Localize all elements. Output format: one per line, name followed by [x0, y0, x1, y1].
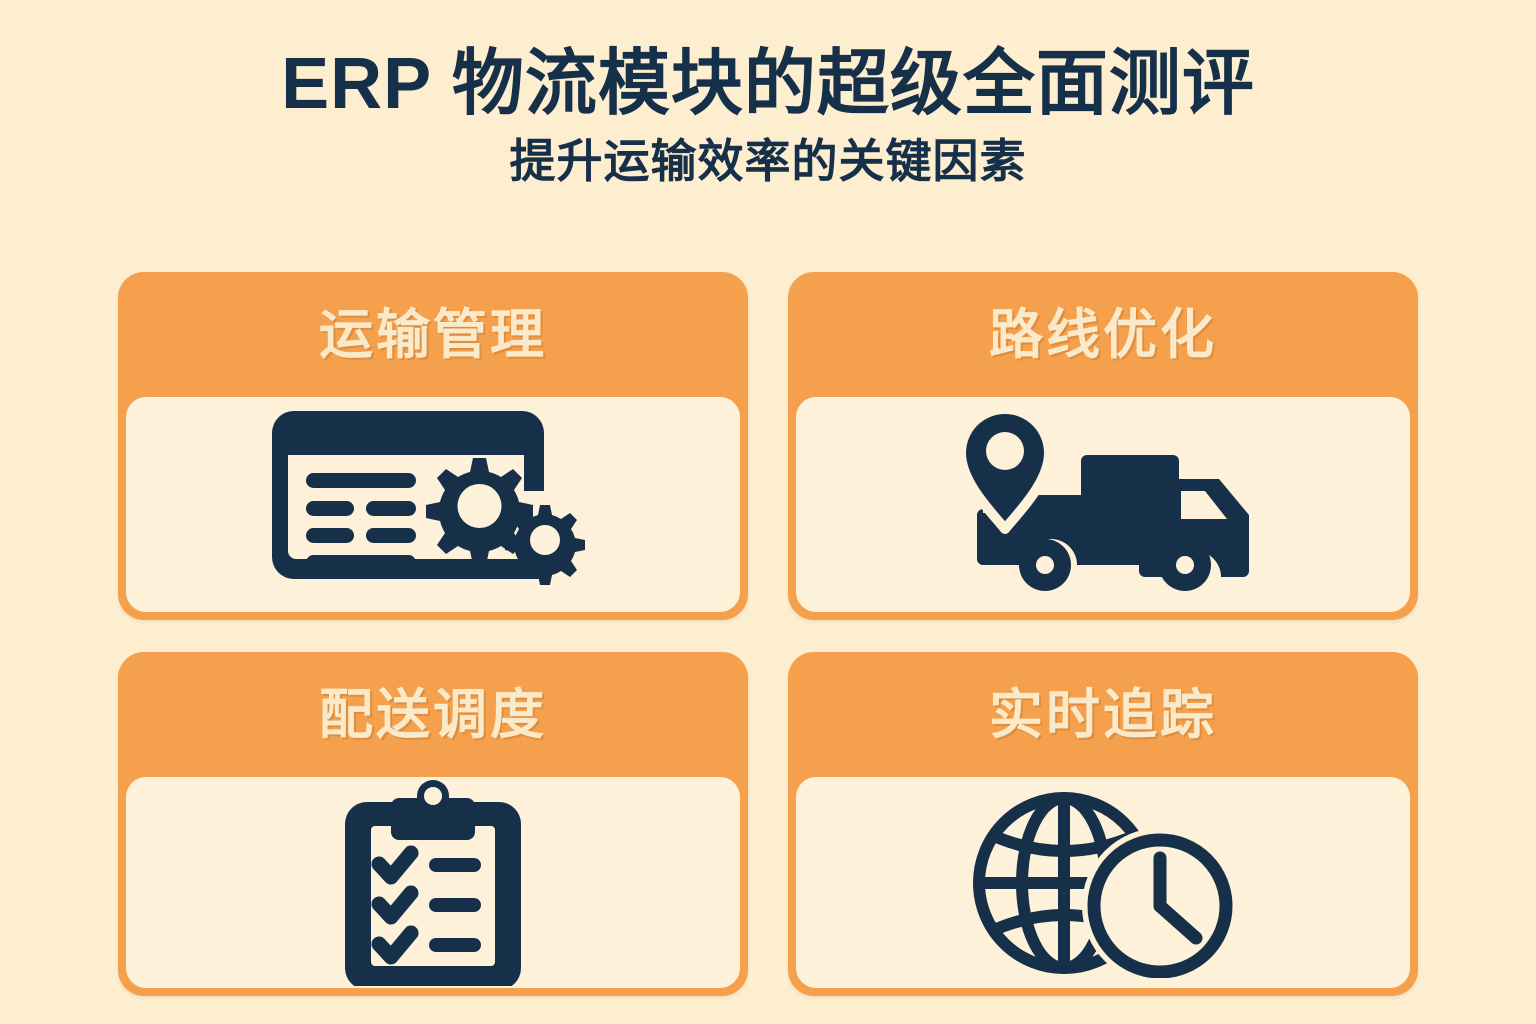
- feature-card-route-optimization[interactable]: 路线优化: [788, 272, 1418, 620]
- card-body-real-time-tracking: [796, 777, 1410, 988]
- card-title-delivery-scheduling: 配送调度: [319, 688, 547, 742]
- delivery-truck-location-icon: [796, 397, 1410, 612]
- poster-header: ERP 物流模块的超级全面测评 提升运输效率的关键因素: [0, 44, 1536, 188]
- card-title-real-time-tracking: 实时追踪: [989, 688, 1217, 742]
- card-body-delivery-scheduling: [126, 777, 740, 988]
- card-body-route-optimization: [796, 397, 1410, 612]
- card-title-route-optimization: 路线优化: [989, 308, 1217, 362]
- card-title-transport-management: 运输管理: [319, 308, 547, 362]
- feature-card-delivery-scheduling[interactable]: 配送调度: [118, 652, 748, 996]
- globe-clock-icon: [796, 777, 1410, 988]
- card-header-transport-management: 运输管理: [118, 272, 748, 397]
- card-header-delivery-scheduling: 配送调度: [118, 652, 748, 777]
- page-title: ERP 物流模块的超级全面测评: [0, 44, 1536, 125]
- card-header-real-time-tracking: 实时追踪: [788, 652, 1418, 777]
- browser-settings-icon: [126, 397, 740, 612]
- page-subtitle: 提升运输效率的关键因素: [0, 135, 1536, 188]
- card-header-route-optimization: 路线优化: [788, 272, 1418, 397]
- feature-card-grid: 运输管理: [118, 272, 1418, 996]
- infographic-poster: ERP 物流模块的超级全面测评 提升运输效率的关键因素 运输管理: [0, 0, 1536, 1024]
- feature-card-real-time-tracking[interactable]: 实时追踪: [788, 652, 1418, 996]
- feature-card-transport-management[interactable]: 运输管理: [118, 272, 748, 620]
- clipboard-checklist-icon: [126, 777, 740, 988]
- card-body-transport-management: [126, 397, 740, 612]
